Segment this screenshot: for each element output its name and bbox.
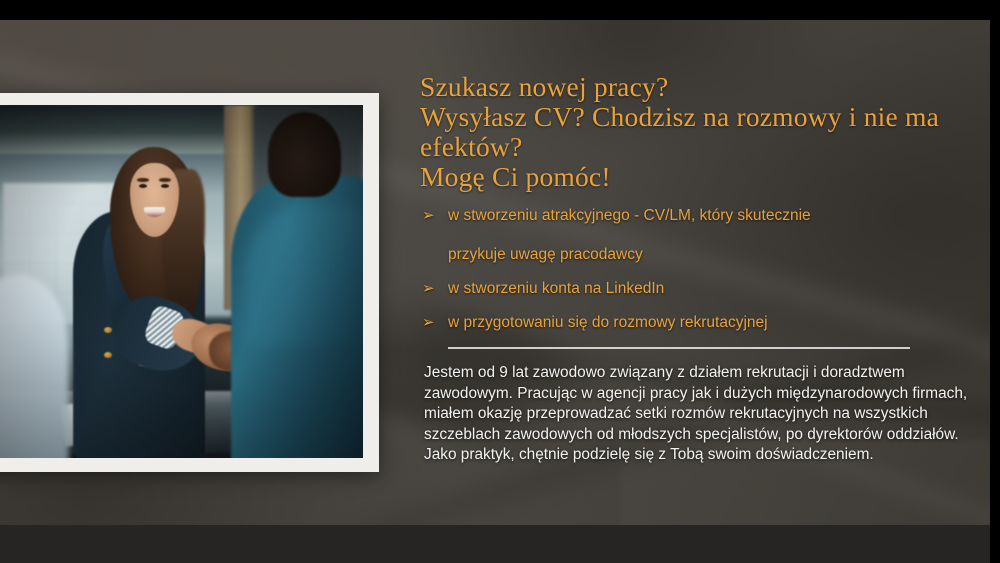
headline-line-3: Mogę Ci pomóc!	[420, 162, 972, 192]
letterbox-right	[990, 0, 1000, 563]
list-item: ➢ w stworzeniu atrakcyjnego - CV/LM, któ…	[420, 206, 972, 264]
list-item-continuation: przykuje uwagę pracodawcy	[448, 245, 972, 264]
arrowhead-bullet-icon: ➢	[420, 279, 448, 298]
list-item-label: w stworzeniu atrakcyjnego - CV/LM, który…	[448, 207, 811, 224]
benefits-list: ➢ w stworzeniu atrakcyjnego - CV/LM, któ…	[420, 206, 972, 332]
headline-line-1: Szukasz nowej pracy?	[420, 72, 972, 102]
slide-canvas: Szukasz nowej pracy? Wysyłasz CV? Chodzi…	[0, 0, 1000, 563]
arrowhead-bullet-icon: ➢	[420, 206, 448, 225]
list-item: ➢ w stworzeniu konta na LinkedIn	[420, 279, 972, 298]
letterbox-top	[0, 0, 1000, 20]
letterbox-bottom	[0, 525, 1000, 563]
horizontal-divider	[448, 347, 910, 349]
photo-card	[0, 93, 379, 472]
handshake-photo	[0, 105, 363, 458]
headline: Szukasz nowej pracy? Wysyłasz CV? Chodzi…	[420, 72, 972, 192]
list-item-text: w przygotowaniu się do rozmowy rekrutacy…	[448, 313, 972, 332]
arrowhead-bullet-icon: ➢	[420, 313, 448, 332]
bio-paragraph: Jestem od 9 lat zawodowo związany z dzia…	[424, 363, 972, 466]
list-item-text: w stworzeniu atrakcyjnego - CV/LM, który…	[448, 206, 972, 264]
list-item-label: w przygotowaniu się do rozmowy rekrutacy…	[448, 314, 768, 331]
photo-scene	[0, 105, 363, 458]
headline-line-2: Wysyłasz CV? Chodzisz na rozmowy i nie m…	[420, 102, 972, 162]
list-item: ➢ w przygotowaniu się do rozmowy rekruta…	[420, 313, 972, 332]
list-item-text: w stworzeniu konta na LinkedIn	[448, 279, 972, 298]
list-item-label: w stworzeniu konta na LinkedIn	[448, 280, 664, 297]
text-column: Szukasz nowej pracy? Wysyłasz CV? Chodzi…	[420, 72, 972, 466]
photo-vignette	[0, 105, 363, 458]
